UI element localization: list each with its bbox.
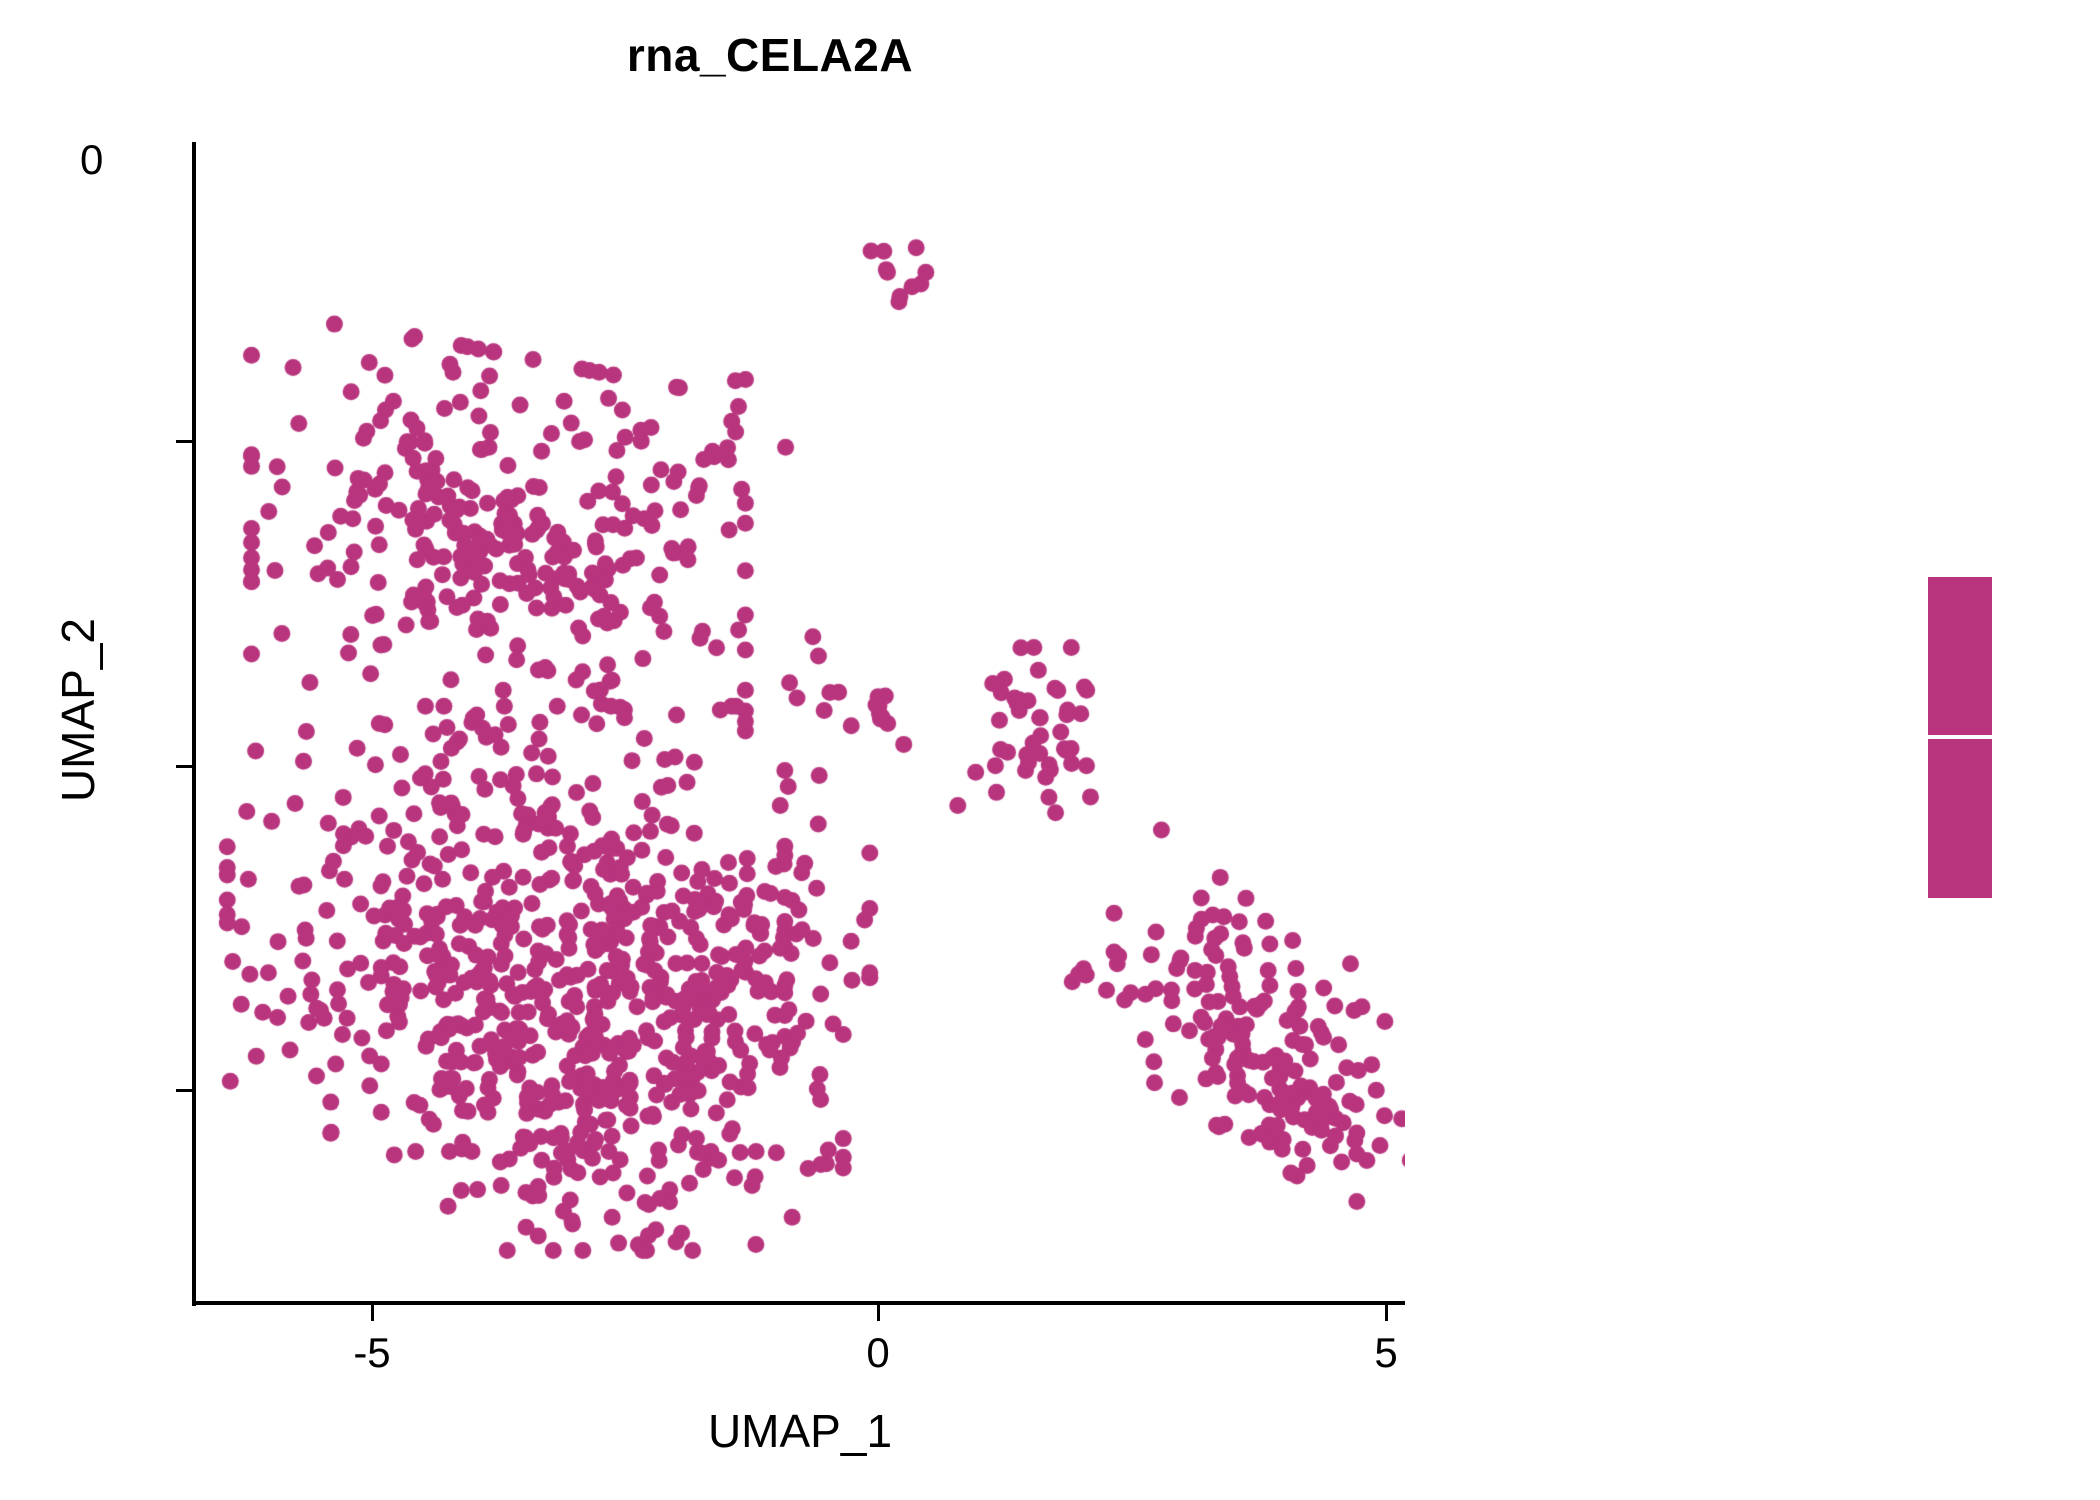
y-tick-mark-m4 bbox=[176, 1089, 192, 1092]
colorbar-legend bbox=[1928, 577, 1992, 898]
x-tick-label-m5: -5 bbox=[292, 1332, 452, 1374]
x-tick-mark-m5 bbox=[371, 1305, 374, 1321]
plot-title: rna_CELA2A bbox=[0, 28, 1540, 82]
y-axis-line bbox=[192, 142, 196, 1306]
x-tick-mark-5 bbox=[1385, 1305, 1388, 1321]
y-tick-mark-4 bbox=[176, 440, 192, 443]
colorbar-tick-gap bbox=[1950, 735, 1970, 739]
scatter-points-canvas bbox=[195, 142, 1405, 1304]
umap-feature-plot-figure: rna_CELA2A 4 0 -4 -5 0 5 UMAP_1 UMAP_2 0 bbox=[0, 0, 2100, 1500]
x-tick-label-0: 0 bbox=[798, 1332, 958, 1374]
x-tick-mark-0 bbox=[877, 1305, 880, 1321]
scatter-plot-area bbox=[195, 142, 1405, 1304]
y-tick-mark-0 bbox=[176, 765, 192, 768]
x-tick-label-5: 5 bbox=[1306, 1332, 1466, 1374]
x-axis-label: UMAP_1 bbox=[195, 1404, 1405, 1458]
colorbar-tick-label-0: 0 bbox=[80, 136, 103, 184]
y-axis-label: UMAP_2 bbox=[51, 400, 105, 1020]
